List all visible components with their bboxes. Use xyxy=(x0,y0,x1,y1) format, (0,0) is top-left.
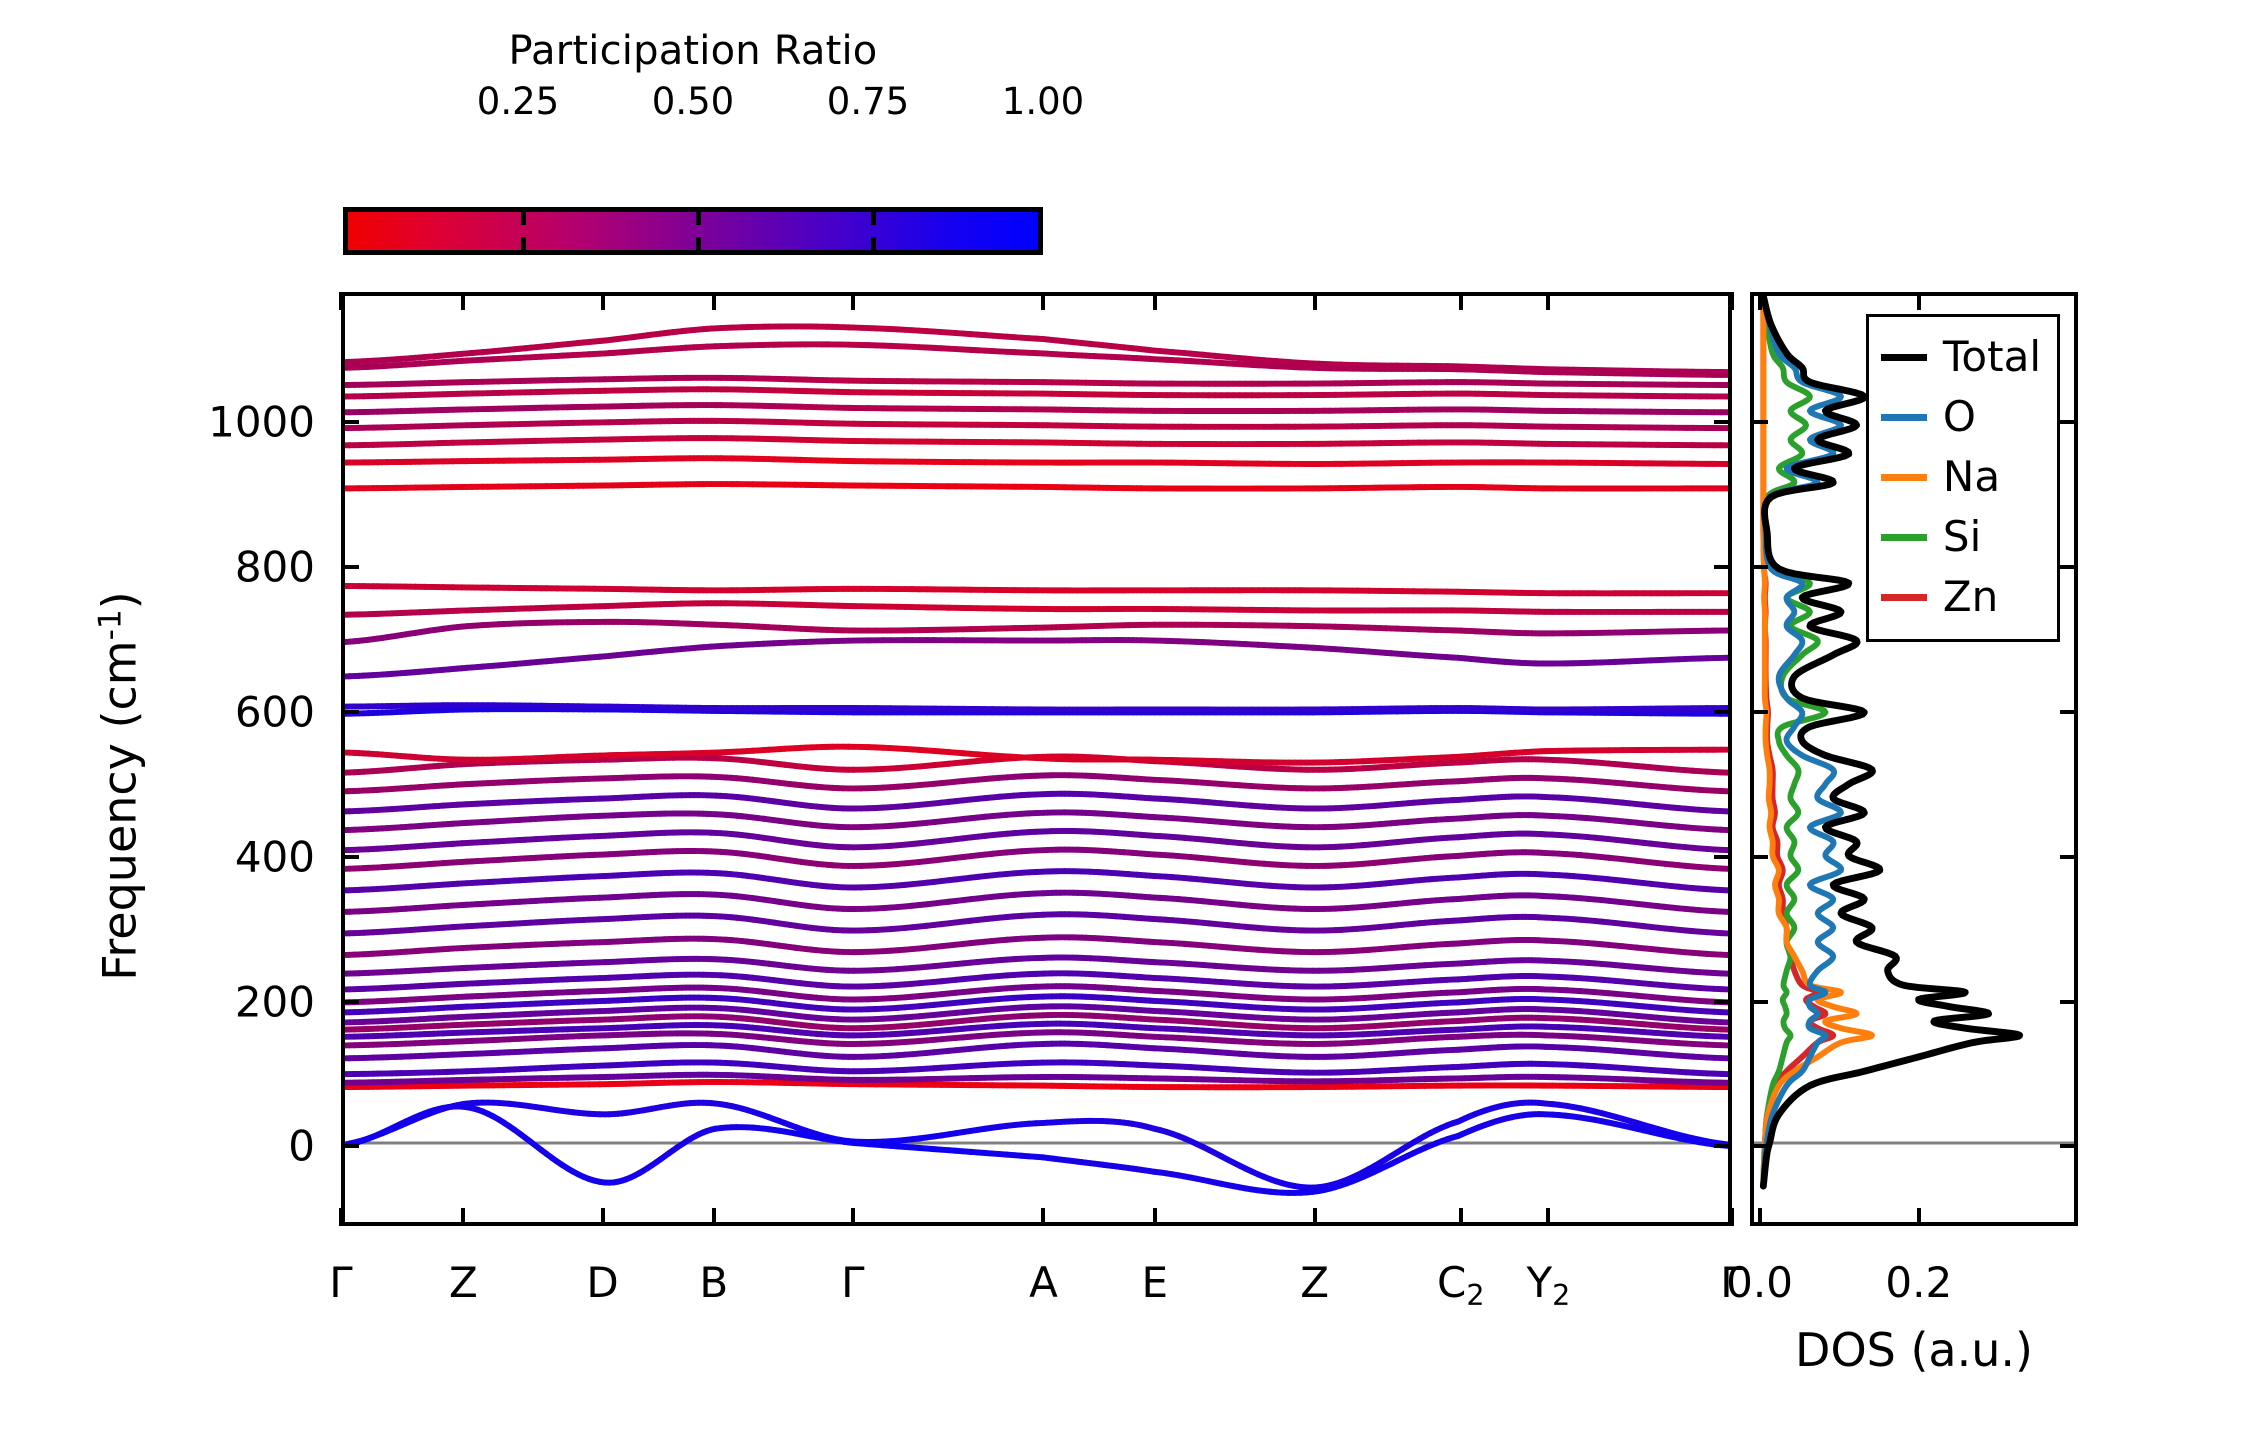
legend-item-o: O xyxy=(1881,387,2041,447)
phonon-band xyxy=(345,421,1728,428)
dos-xtick-mark xyxy=(1917,1208,1921,1226)
band-xtick-mark xyxy=(1041,292,1045,310)
band-xtick-mark xyxy=(1546,292,1550,310)
legend-color-swatch xyxy=(1881,354,1927,361)
phonon-band xyxy=(345,937,1728,955)
dos-ytick-mark xyxy=(2060,1144,2078,1148)
band-xtick-mark xyxy=(1153,292,1157,310)
legend-item-na: Na xyxy=(1881,447,2041,507)
band-xtick-mark xyxy=(339,292,343,310)
band-ytick-label: 1000 xyxy=(0,398,315,447)
band-ytick-label: 0 xyxy=(0,1122,315,1171)
legend-color-swatch xyxy=(1881,474,1927,481)
colorbar-tick-mark xyxy=(871,212,876,225)
legend-item-total: Total xyxy=(1881,327,2041,387)
dos-ytick-mark xyxy=(2060,565,2078,569)
phonon-band xyxy=(345,1075,1728,1083)
band-xtick-mark xyxy=(1153,1208,1157,1226)
y-axis-title: Frequency (cm-1) xyxy=(93,591,147,980)
band-structure-axes xyxy=(341,292,1732,1226)
legend-color-swatch xyxy=(1881,414,1927,421)
band-ytick-label: 800 xyxy=(0,543,315,592)
phonon-band xyxy=(345,484,1728,488)
band-ytick-mark xyxy=(341,710,359,714)
dos-xtick-mark xyxy=(1758,1208,1762,1226)
band-ytick-mark xyxy=(1714,855,1732,859)
band-xtick-label: Z xyxy=(449,1258,478,1307)
band-xtick-mark xyxy=(601,1208,605,1226)
band-ytick-mark xyxy=(1714,1000,1732,1004)
band-xtick-mark xyxy=(461,292,465,310)
phonon-band xyxy=(345,831,1728,850)
dos-legend: TotalONaSiZn xyxy=(1866,314,2060,642)
phonon-band xyxy=(345,850,1728,869)
colorbar-tick-label: 0.25 xyxy=(477,80,559,123)
dos-ytick-mark xyxy=(2060,710,2078,714)
colorbar-gradient xyxy=(343,207,1043,255)
band-xtick-label: E xyxy=(1141,1258,1168,1307)
phonon-band xyxy=(345,326,1728,372)
phonon-band xyxy=(345,378,1728,385)
phonon-band xyxy=(345,603,1728,614)
band-ytick-label: 400 xyxy=(0,832,315,881)
band-ytick-mark xyxy=(1714,710,1732,714)
band-xtick-mark xyxy=(1041,1208,1045,1226)
band-xtick-label: Γ xyxy=(841,1258,864,1307)
y-axis-title-text: Frequency (cm xyxy=(93,640,147,980)
colorbar-tick-mark xyxy=(521,212,526,225)
phonon-band xyxy=(345,438,1728,445)
band-xtick-mark xyxy=(851,1208,855,1226)
phonon-band xyxy=(345,794,1728,812)
legend-item-zn: Zn xyxy=(1881,567,2041,627)
colorbar-tick-mark xyxy=(521,237,526,250)
band-ytick-mark xyxy=(1714,565,1732,569)
phonon-band xyxy=(345,640,1728,676)
colorbar-tick-mark xyxy=(696,212,701,225)
legend-color-swatch xyxy=(1881,594,1927,601)
legend-label: O xyxy=(1943,396,1976,438)
dos-xtick-mark xyxy=(1917,292,1921,310)
dos-ytick-mark xyxy=(1750,420,1768,424)
band-xtick-mark xyxy=(339,1208,343,1226)
dos-ytick-mark xyxy=(2060,1000,2078,1004)
band-xtick-label: D xyxy=(586,1258,618,1307)
phonon-band xyxy=(345,586,1728,593)
band-ytick-mark xyxy=(341,1000,359,1004)
band-xtick-mark xyxy=(601,292,605,310)
band-xtick-mark xyxy=(1546,1208,1550,1226)
band-ytick-mark xyxy=(341,855,359,859)
colorbar-tick-mark xyxy=(696,237,701,250)
dos-xtick-label: 0.0 xyxy=(1726,1258,1793,1307)
band-xtick-label: Z xyxy=(1300,1258,1329,1307)
phonon-band xyxy=(345,1082,1728,1087)
band-xtick-mark xyxy=(1730,292,1734,310)
dos-ytick-mark xyxy=(1750,1000,1768,1004)
legend-label: Si xyxy=(1943,516,1981,558)
band-xtick-mark xyxy=(1313,1208,1317,1226)
legend-item-si: Si xyxy=(1881,507,2041,567)
band-ytick-mark xyxy=(341,1144,359,1148)
colorbar-tick-label: 0.50 xyxy=(652,80,734,123)
band-xtick-mark xyxy=(712,292,716,310)
phonon-band xyxy=(345,405,1728,412)
phonon-band xyxy=(345,914,1728,933)
band-ytick-label: 200 xyxy=(0,977,315,1026)
band-ytick-mark xyxy=(341,420,359,424)
dos-ytick-mark xyxy=(2060,420,2078,424)
band-xtick-mark xyxy=(712,1208,716,1226)
band-ytick-mark xyxy=(1714,420,1732,424)
dos-ytick-mark xyxy=(1750,710,1768,714)
legend-label: Zn xyxy=(1943,576,1998,618)
band-structure-plot xyxy=(345,296,1728,1222)
y-axis-title-exponent: -1 xyxy=(93,609,129,640)
phonon-band xyxy=(345,775,1728,791)
legend-label: Na xyxy=(1943,456,2000,498)
band-xtick-label: A xyxy=(1029,1258,1058,1307)
phonon-band xyxy=(345,1044,1728,1059)
band-xtick-label: C2 xyxy=(1437,1258,1485,1312)
colorbar-ticklabels: 0.250.500.751.00 xyxy=(343,80,1043,132)
dos-series-si xyxy=(1763,296,1825,1186)
dos-ytick-mark xyxy=(1750,565,1768,569)
band-xtick-mark xyxy=(1730,1208,1734,1226)
phonon-band xyxy=(345,812,1728,830)
legend-color-swatch xyxy=(1881,534,1927,541)
band-ytick-label: 600 xyxy=(0,687,315,736)
band-xtick-label: Γ xyxy=(329,1258,352,1307)
phonon-figure: Participation Ratio 0.250.500.751.00 100… xyxy=(0,0,2259,1455)
legend-label: Total xyxy=(1943,336,2041,378)
phonon-band xyxy=(345,1106,1728,1192)
band-ytick-mark xyxy=(341,565,359,569)
dos-axes: TotalONaSiZn xyxy=(1750,292,2078,1226)
band-xtick-mark xyxy=(461,1208,465,1226)
dos-xtick-mark xyxy=(1758,292,1762,310)
colorbar-tick-mark xyxy=(871,237,876,250)
dos-ytick-mark xyxy=(2060,855,2078,859)
band-xtick-mark xyxy=(1459,1208,1463,1226)
dos-axis-title: DOS (a.u.) xyxy=(1795,1323,2033,1377)
band-ytick-mark xyxy=(1714,1144,1732,1148)
phonon-band xyxy=(345,389,1728,396)
band-xtick-mark xyxy=(1459,292,1463,310)
phonon-band xyxy=(345,1062,1728,1074)
dos-xtick-label: 0.2 xyxy=(1885,1258,1952,1307)
band-xtick-mark xyxy=(851,292,855,310)
colorbar-tick-label: 0.75 xyxy=(827,80,909,123)
phonon-band xyxy=(345,871,1728,890)
y-axis-title-suffix: ) xyxy=(93,591,147,609)
band-xtick-label: B xyxy=(699,1258,728,1307)
band-xtick-label: Y2 xyxy=(1526,1258,1570,1312)
dos-ytick-mark xyxy=(1750,1144,1768,1148)
band-xtick-mark xyxy=(1313,292,1317,310)
colorbar-title: Participation Ratio xyxy=(343,30,1043,72)
phonon-band xyxy=(345,893,1728,912)
phonon-band xyxy=(345,458,1728,464)
dos-ytick-mark xyxy=(1750,855,1768,859)
colorbar-header: Participation Ratio 0.250.500.751.00 xyxy=(343,30,1043,132)
colorbar-tick-label: 1.00 xyxy=(1002,80,1084,123)
